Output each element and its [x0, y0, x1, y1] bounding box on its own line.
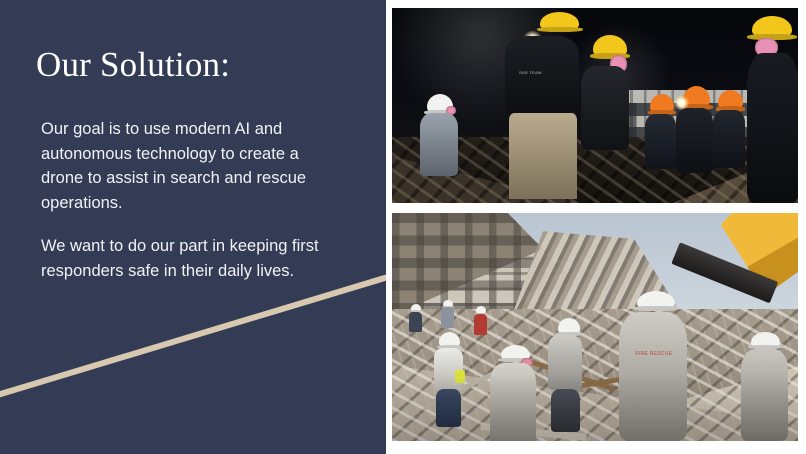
rescuer-climber-b	[441, 300, 457, 330]
rescuer-torso	[420, 113, 459, 176]
yellow-helmet-icon	[540, 12, 579, 31]
content-panel: Our Solution: Our goal is to use modern …	[0, 0, 386, 454]
rescuer-legs	[509, 113, 577, 199]
white-helmet-icon	[751, 332, 781, 348]
yellow-helmet-icon	[752, 16, 793, 38]
foreground-shadow	[392, 373, 798, 441]
paragraph-mission: We want to do our part in keeping first …	[41, 234, 336, 283]
rescuer-foreground-right	[749, 16, 798, 203]
rescuer-climber-c	[473, 306, 489, 336]
rescuer-torso	[676, 108, 713, 173]
page-title: Our Solution:	[36, 44, 230, 86]
orange-helmet-icon	[650, 94, 674, 114]
uniform-logo-text: FIRE RESCUE	[635, 351, 672, 357]
photo-day-collapse: FIRE RESCUE	[392, 213, 798, 441]
rescuer-climber-a	[408, 304, 424, 334]
white-helmet-icon	[411, 304, 421, 312]
body-text-block: Our goal is to use modern AI and autonom…	[41, 117, 336, 283]
rescuer-torso	[409, 312, 422, 333]
rescuer-torso	[645, 114, 677, 170]
orange-helmet-icon	[718, 90, 742, 111]
rescuer-torso	[474, 314, 487, 335]
yellow-helmet-icon	[593, 35, 627, 57]
white-helmet-icon	[558, 318, 581, 335]
rescuer-torso	[747, 53, 798, 203]
rescuer-torso	[441, 307, 454, 328]
rescuer-torso	[713, 110, 745, 168]
white-helmet-icon	[637, 291, 675, 311]
rescuer-center-right	[579, 35, 644, 175]
presentation-slide: Our Solution: Our goal is to use modern …	[0, 0, 806, 454]
uniform-logo-text: SAR TEAM	[519, 70, 542, 75]
rescuer-torso	[505, 36, 579, 115]
rescuer-left	[416, 94, 473, 195]
photo-night-rescue: SAR TEAM	[392, 8, 798, 203]
rescuer-torso	[581, 66, 629, 150]
white-helmet-icon	[439, 332, 460, 348]
paragraph-goal: Our goal is to use modern AI and autonom…	[41, 117, 336, 215]
